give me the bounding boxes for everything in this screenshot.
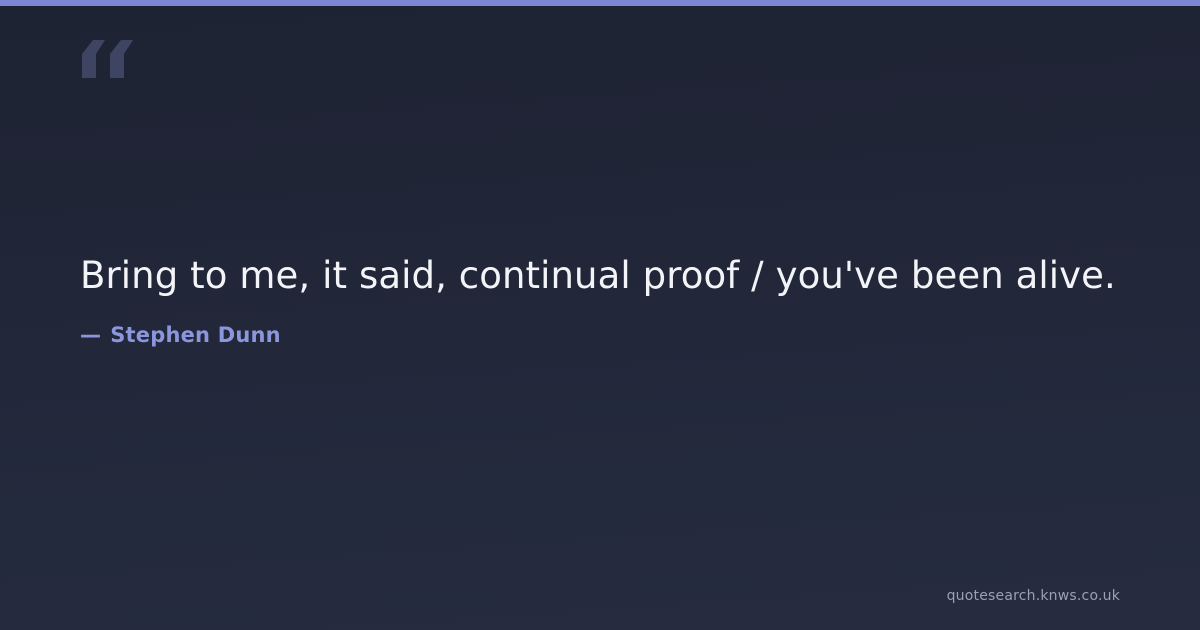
quote-card: Bring to me, it said, continual proof / … — [0, 0, 1200, 630]
site-watermark: quotesearch.knws.co.uk — [947, 588, 1120, 604]
top-accent-bar — [0, 0, 1200, 6]
quote-content: Bring to me, it said, continual proof / … — [80, 252, 1120, 347]
attribution-dash: — — [80, 323, 101, 347]
author-name: Stephen Dunn — [110, 323, 281, 347]
double-quote-icon — [80, 34, 140, 86]
quote-attribution: — Stephen Dunn — [80, 323, 1120, 347]
quote-text: Bring to me, it said, continual proof / … — [80, 252, 1120, 301]
